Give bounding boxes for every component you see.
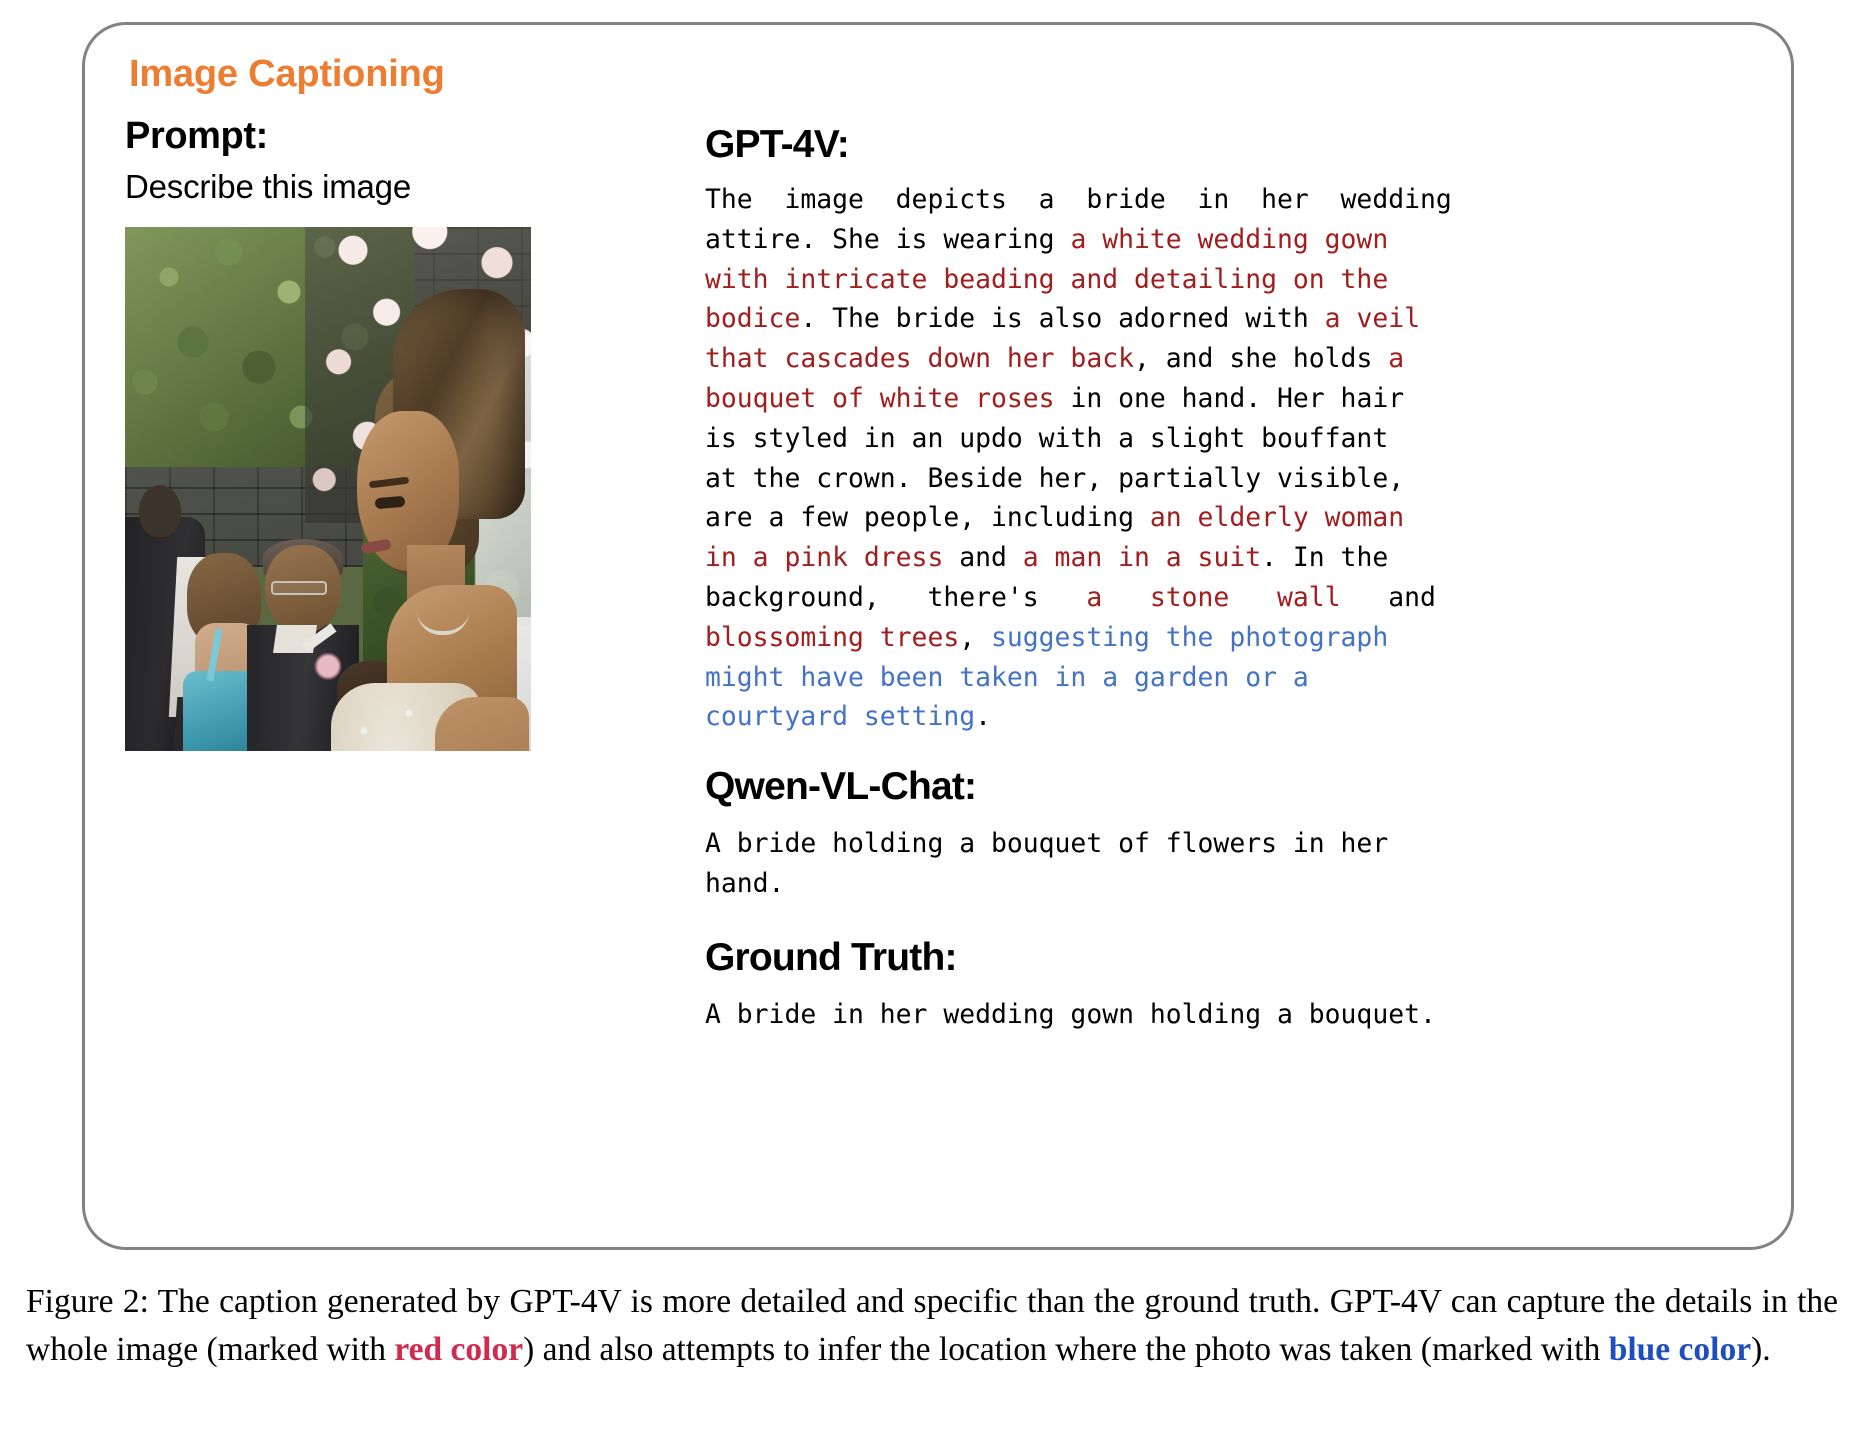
caption-blue-label: blue color bbox=[1609, 1331, 1751, 1368]
ground-truth-text: A bride in her wedding gown holding a bo… bbox=[705, 995, 1577, 1035]
qwen-heading: Qwen-VL-Chat: bbox=[705, 767, 1577, 806]
text-run-black: and bbox=[1341, 582, 1436, 613]
text-run-red: a stone wall bbox=[1086, 582, 1340, 613]
figure-caption: Figure 2: The caption generated by GPT-4… bbox=[26, 1278, 1838, 1374]
gpt4v-heading: GPT-4V: bbox=[705, 125, 1577, 164]
text-run-black: and bbox=[943, 542, 1022, 573]
prompt-text: Describe this image bbox=[125, 169, 585, 205]
photo-color-grade bbox=[125, 227, 531, 751]
qwen-response-text: A bride holding a bouquet of flowers in … bbox=[705, 824, 1577, 904]
figure-panel: Image Captioning Prompt: Describe this i… bbox=[82, 22, 1794, 1250]
text-run-red: a man in a suit bbox=[1023, 542, 1261, 573]
caption-red-label: red color bbox=[394, 1331, 523, 1368]
panel-title: Image Captioning bbox=[129, 53, 445, 96]
text-run-black: . The bride is also adorned with bbox=[800, 303, 1324, 334]
responses-column: GPT-4V: The image depicts a bride in her… bbox=[705, 125, 1577, 1035]
prompt-image bbox=[125, 227, 531, 751]
text-run-red: blossoming trees bbox=[705, 622, 959, 653]
prompt-column: Prompt: Describe this image bbox=[125, 117, 585, 751]
text-run-black: . bbox=[975, 701, 991, 732]
gpt4v-response-text: The image depicts a bride in her wedding… bbox=[705, 180, 1577, 737]
text-run-black: A bride holding a bouquet of flowers in … bbox=[705, 828, 1388, 899]
text-run-black: , and she holds bbox=[1134, 343, 1388, 374]
ground-truth-heading: Ground Truth: bbox=[705, 938, 1577, 977]
prompt-heading: Prompt: bbox=[125, 117, 585, 155]
caption-part-3: ). bbox=[1751, 1331, 1771, 1368]
text-run-black: , bbox=[959, 622, 991, 653]
text-run-black: A bride in her wedding gown holding a bo… bbox=[705, 999, 1436, 1030]
caption-part-2: ) and also attempts to infer the locatio… bbox=[523, 1331, 1609, 1368]
